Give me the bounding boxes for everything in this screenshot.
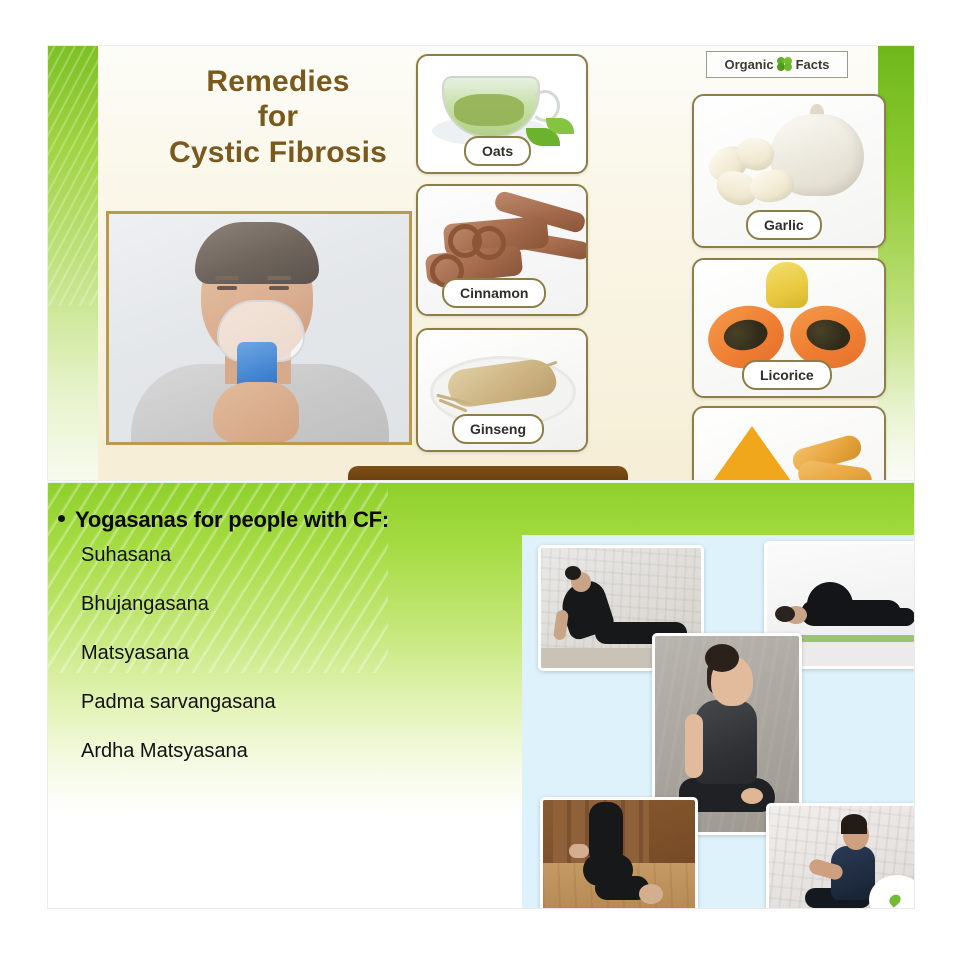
photo-hand [213, 382, 299, 442]
asana-list: Suhasana Bhujangasana Matsyasana Padma s… [81, 545, 276, 790]
photo-hair [195, 222, 319, 284]
curcumin-photo [694, 408, 884, 480]
remedy-card-licorice[interactable]: Licorice [692, 258, 886, 398]
remedy-card-cinnamon[interactable]: Cinnamon [416, 184, 588, 316]
remedy-card-ginseng[interactable]: Ginseng [416, 328, 588, 452]
list-item: Suhasana [81, 545, 276, 565]
photo-brow-right [267, 276, 291, 280]
clover-icon [776, 57, 794, 73]
slide-left-green-band [48, 46, 98, 480]
clipped-card-strip [348, 466, 628, 480]
remedy-label-oats: Oats [464, 136, 531, 166]
logo-word-facts: Facts [796, 57, 830, 72]
slide-remedies: Remedies for Cystic Fibrosis Organic Fac… [48, 46, 914, 480]
screenshot-page: Remedies for Cystic Fibrosis Organic Fac… [0, 0, 960, 960]
title-line-2: for [118, 99, 438, 134]
remedy-card-garlic[interactable]: Garlic [692, 94, 886, 248]
slide-yogasanas: Yogasanas for people with CF: Suhasana B… [48, 483, 914, 908]
remedy-card-curcumin[interactable]: Curcumin [692, 406, 886, 480]
remedy-label-ginseng: Ginseng [452, 414, 544, 444]
remedy-label-licorice: Licorice [742, 360, 832, 390]
remedy-label-cinnamon: Cinnamon [442, 278, 546, 308]
logo-word-organic: Organic [724, 57, 773, 72]
slide-title: Remedies for Cystic Fibrosis [118, 64, 438, 170]
bullet-heading-row: Yogasanas for people with CF: [58, 507, 389, 533]
list-item: Padma sarvangasana [81, 692, 276, 712]
nebulizer-photo [106, 211, 412, 445]
list-item: Matsyasana [81, 643, 276, 663]
photo-eye-right [269, 286, 289, 290]
title-line-3: Cystic Fibrosis [118, 135, 438, 170]
bullet-heading-text: Yogasanas for people with CF: [75, 507, 389, 533]
title-line-1: Remedies [118, 64, 438, 99]
list-item: Ardha Matsyasana [81, 741, 276, 761]
photo-eye-left [217, 286, 237, 290]
organic-facts-logo: Organic Facts [706, 51, 848, 78]
bullet-dot-icon [58, 515, 65, 522]
list-item: Bhujangasana [81, 594, 276, 614]
yoga-photo-shoulder-stand [540, 797, 698, 908]
remedy-card-oats[interactable]: Oats [416, 54, 588, 174]
yoga-photo-collage [522, 535, 914, 908]
yoga-photo-seated-twist [766, 803, 914, 908]
photo-brow-left [215, 276, 239, 280]
remedy-label-garlic: Garlic [746, 210, 822, 240]
